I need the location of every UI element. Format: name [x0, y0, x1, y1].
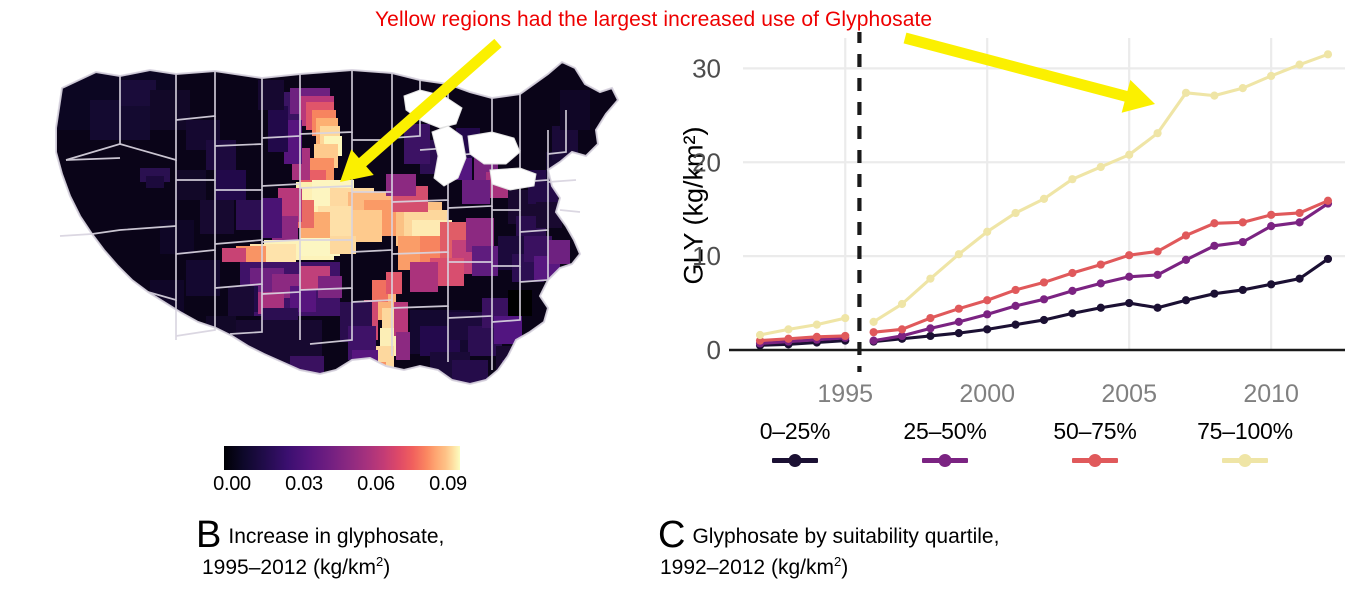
legend-item-0[interactable]: 0–25%	[720, 418, 870, 467]
chart-legend: 0–25% 25–50% 50–75% 75–100%	[720, 418, 1320, 467]
x-axis-ticks: 1995200020052010	[817, 380, 1299, 408]
svg-text:10: 10	[692, 241, 721, 271]
panel-c-caption-line1: Glyphosate by suitability quartile,	[692, 525, 999, 548]
legend-key-1	[870, 453, 1020, 467]
chart-series-group	[756, 50, 1332, 349]
svg-text:2000: 2000	[959, 380, 1015, 408]
legend-label-0: 0–25%	[720, 418, 870, 445]
legend-key-0	[720, 453, 870, 467]
svg-text:1995: 1995	[817, 380, 873, 408]
panel-b-caption-line1: Increase in glyphosate,	[228, 525, 444, 548]
panel-b-caption: BIncrease in glyphosate, 1995–2012 (kg/k…	[196, 518, 646, 584]
panel-c-chart: GLY (kg/km²) 0102030 1995200020052010	[655, 32, 1355, 432]
panel-b-caption-line2-pre: 1995–2012 (kg/km	[202, 556, 376, 579]
svg-text:2010: 2010	[1243, 380, 1299, 408]
svg-text:30: 30	[692, 53, 721, 83]
legend-label-1: 25–50%	[870, 418, 1020, 445]
legend-item-3[interactable]: 75–100%	[1170, 418, 1320, 467]
legend-dot-1	[939, 454, 952, 467]
map-colorbar: 0.00 0.03 0.06 0.09	[196, 446, 486, 496]
legend-item-1[interactable]: 25–50%	[870, 418, 1020, 467]
us-county-choropleth	[0, 40, 660, 440]
panel-c-letter: C	[658, 518, 685, 552]
svg-text:20: 20	[692, 147, 721, 177]
legend-key-2	[1020, 453, 1170, 467]
panel-b-caption-line2-post: )	[383, 556, 390, 579]
legend-dot-3	[1239, 454, 1252, 467]
panel-b-map	[0, 40, 660, 440]
legend-dot-2	[1089, 454, 1102, 467]
panel-c-caption-line2: 1992–2012 (kg/km2)	[660, 552, 1278, 584]
colorbar-tick-labels: 0.00 0.03 0.06 0.09	[196, 473, 486, 496]
colorbar-gradient	[224, 446, 460, 470]
svg-text:0: 0	[707, 335, 721, 365]
panel-b-letter: B	[196, 518, 221, 552]
colorbar-tick-2: 0.06	[340, 473, 412, 496]
annotation-headline: Yellow regions had the largest increased…	[375, 8, 932, 32]
legend-key-3	[1170, 453, 1320, 467]
legend-label-2: 50–75%	[1020, 418, 1170, 445]
legend-dot-0	[789, 454, 802, 467]
colorbar-tick-1: 0.03	[268, 473, 340, 496]
legend-label-3: 75–100%	[1170, 418, 1320, 445]
panel-b-caption-line2: 1995–2012 (kg/km2)	[202, 552, 646, 584]
legend-item-2[interactable]: 50–75%	[1020, 418, 1170, 467]
panel-c-caption-line2-pre: 1992–2012 (kg/km	[660, 556, 834, 579]
y-axis-ticks: 0102030	[692, 53, 721, 365]
colorbar-tick-0: 0.00	[196, 473, 268, 496]
glyphosate-line-chart: 0102030 1995200020052010	[655, 32, 1355, 432]
colorbar-tick-3: 0.09	[412, 473, 484, 496]
svg-text:2005: 2005	[1101, 380, 1157, 408]
panel-c-caption-line2-post: )	[841, 556, 848, 579]
panel-c-caption: CGlyphosate by suitability quartile, 199…	[658, 518, 1278, 584]
